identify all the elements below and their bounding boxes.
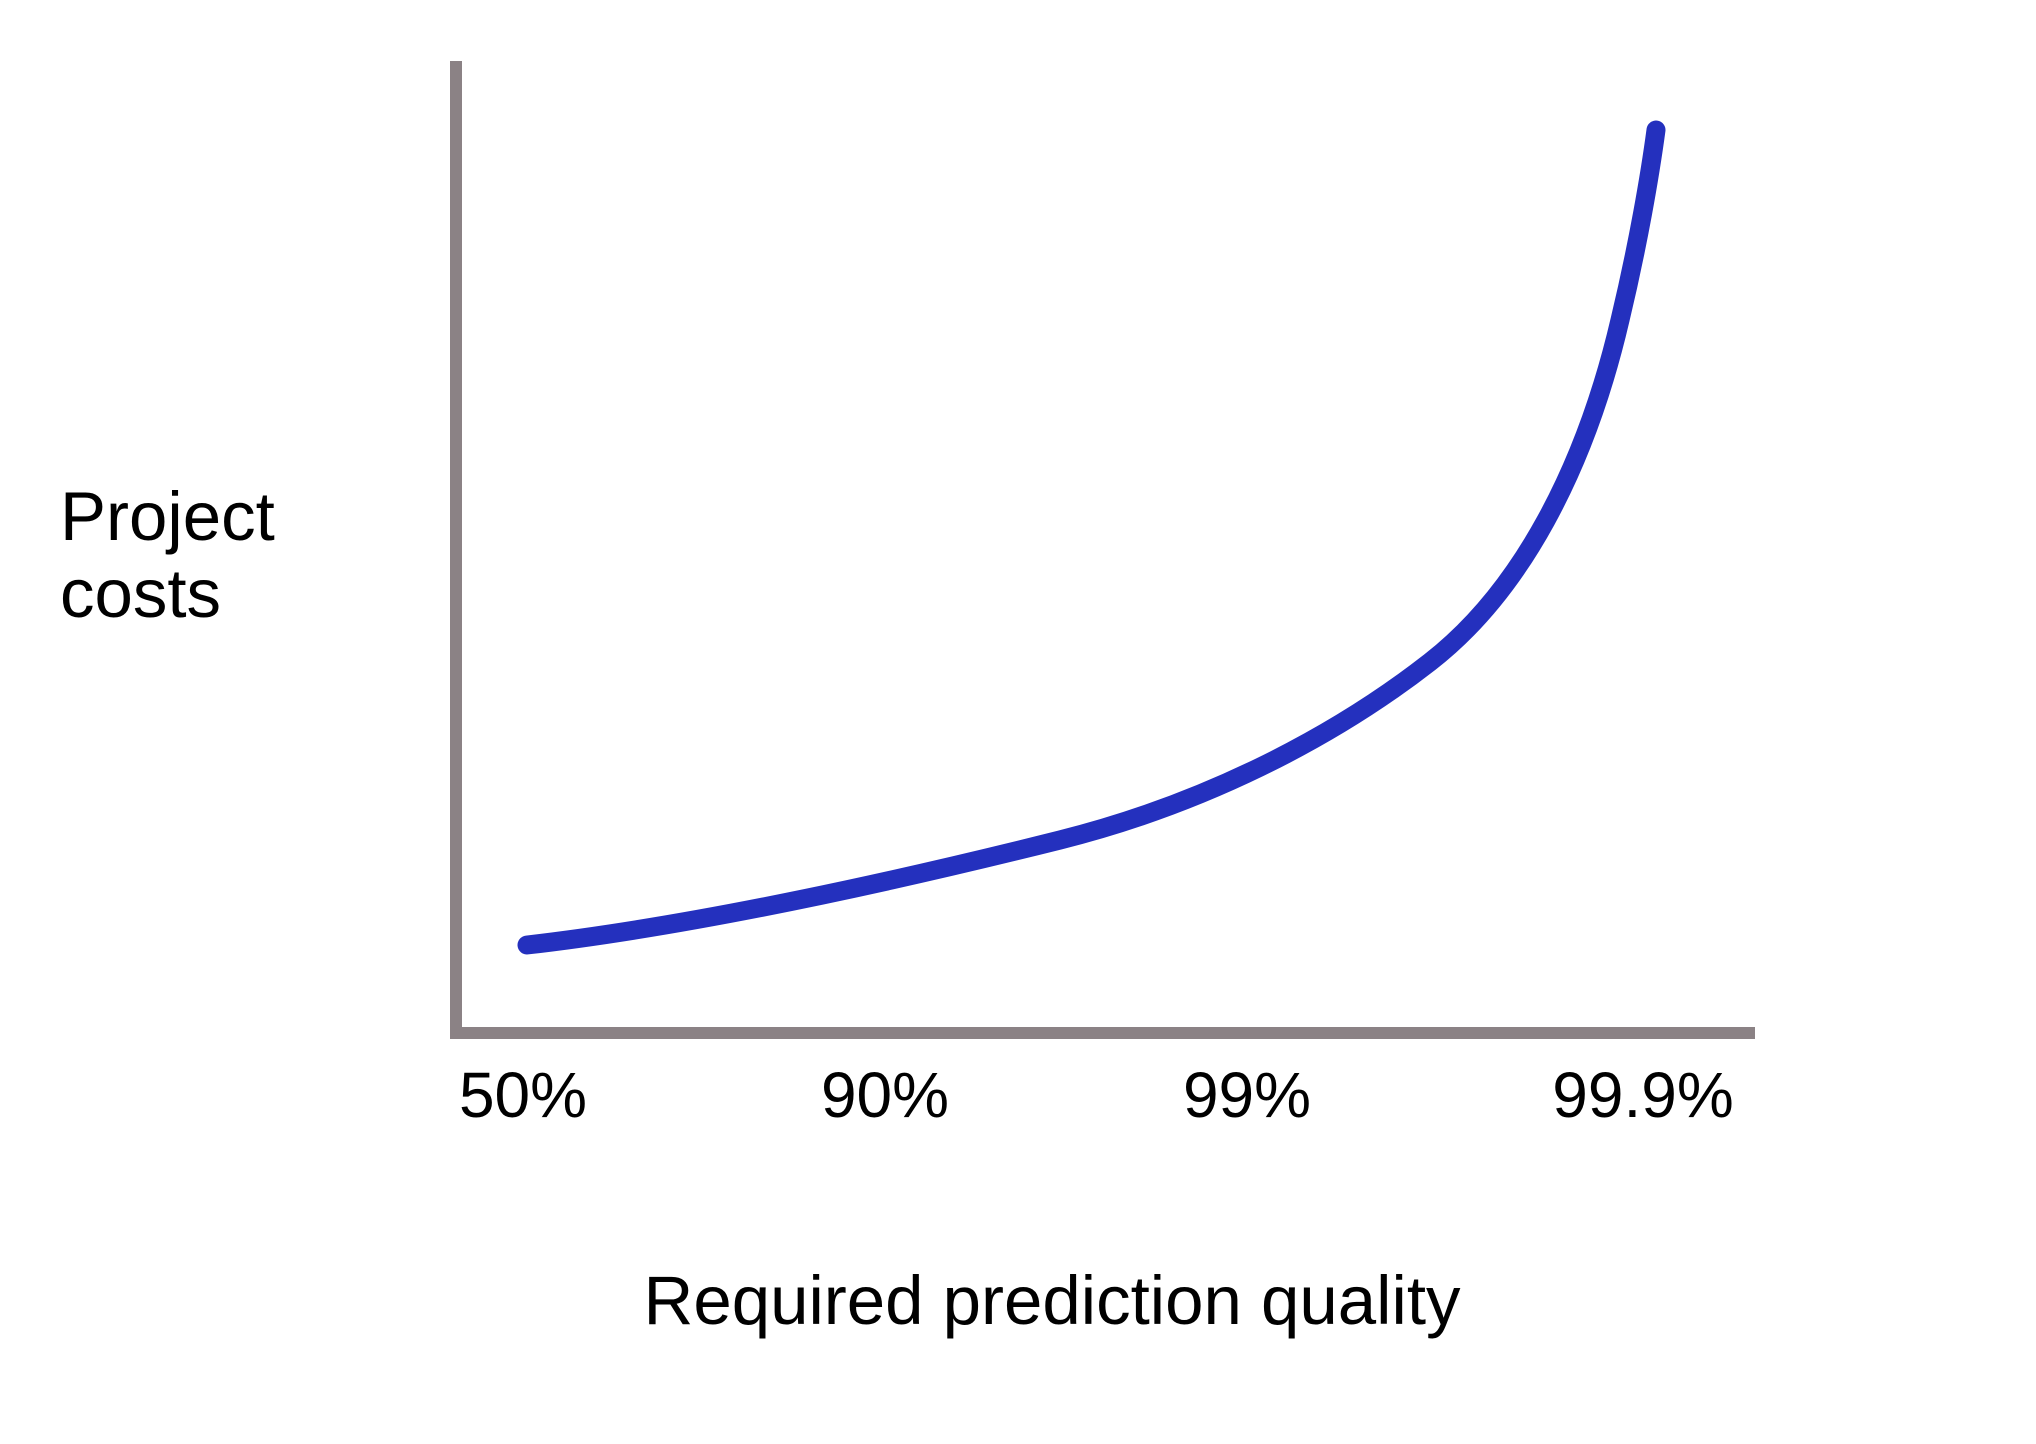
cost-curve-line bbox=[527, 130, 1656, 945]
x-tick-label-4: 99.9% bbox=[1552, 1058, 1733, 1132]
y-axis-title: Project costs bbox=[60, 478, 390, 633]
x-tick-label-2: 90% bbox=[821, 1058, 949, 1132]
chart-plot-area bbox=[0, 0, 2036, 1444]
x-axis-title: Required prediction quality bbox=[0, 1262, 2036, 1339]
chart-figure: Project costs Required prediction qualit… bbox=[0, 0, 2036, 1444]
x-tick-label-1: 50% bbox=[459, 1058, 587, 1132]
x-tick-label-3: 99% bbox=[1183, 1058, 1311, 1132]
